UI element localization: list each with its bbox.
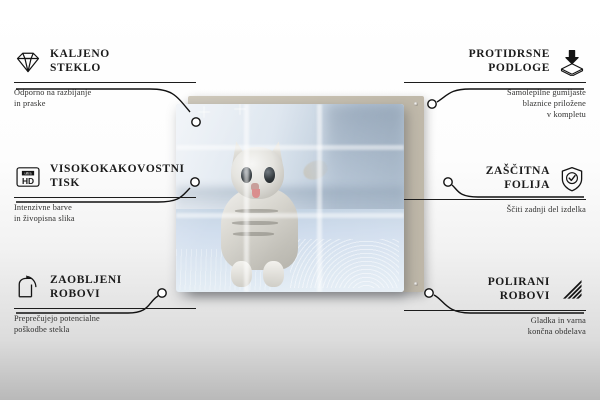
divider	[14, 197, 196, 198]
svg-text:HD: HD	[22, 176, 34, 186]
feature-title: ZAŠČITNA FOLIJA	[486, 165, 550, 192]
ultra-hd-badge-icon: ultra HD	[14, 163, 42, 191]
divider	[14, 82, 196, 83]
feature-title: VISOKOKAKOVOSTNI TISK	[50, 163, 185, 190]
product-image	[176, 96, 424, 296]
hatched-triangle-icon	[558, 276, 586, 304]
shield-check-icon	[558, 165, 586, 193]
kitten-photo	[176, 104, 404, 292]
feature-description: Odporno na razbijanje in praske	[14, 87, 196, 109]
sparkle-icon	[234, 104, 246, 115]
glass-plate	[176, 104, 404, 292]
feature-kaljeno-steklo: KALJENO STEKLO Odporno na razbijanje in …	[14, 44, 196, 109]
anti-slip-pad-icon	[558, 48, 586, 76]
svg-text:ultra: ultra	[24, 172, 32, 176]
feature-description: Gladka in varna končna obdelava	[404, 315, 586, 337]
feature-zaobljeni-robovi: ZAOBLJENI ROBOVI Preprečujejo potencialn…	[14, 270, 196, 335]
feature-protidrsne-podloge: PROTIDRSNE PODLOGE Samolepilne gumijaste…	[404, 44, 586, 121]
feature-description: Preprečujejo potencialne poškodbe stekla	[14, 313, 196, 335]
rounded-corner-icon	[14, 274, 42, 302]
divider	[404, 82, 586, 83]
divider	[14, 308, 196, 309]
feature-title: POLIRANI ROBOVI	[488, 276, 550, 303]
feature-description: Samolepilne gumijaste blaznice priložene…	[404, 87, 586, 121]
feature-title: PROTIDRSNE PODLOGE	[469, 48, 550, 75]
glass-sheen	[176, 104, 404, 292]
divider	[404, 310, 586, 311]
sparkle-icon	[198, 106, 210, 118]
feature-description: Intenzivne barve in živopisna slika	[14, 202, 196, 224]
feature-title: KALJENO STEKLO	[50, 48, 110, 75]
infographic-canvas: KALJENO STEKLO Odporno na razbijanje in …	[0, 0, 600, 400]
feature-polirani-robovi: POLIRANI ROBOVI Gladka in varna končna o…	[404, 272, 586, 337]
feature-zascitna-folija: ZAŠČITNA FOLIJA Ščiti zadnji del izdelka	[404, 161, 586, 215]
feature-title: ZAOBLJENI ROBOVI	[50, 274, 122, 301]
feature-description: Ščiti zadnji del izdelka	[404, 204, 586, 215]
diamond-icon	[14, 48, 42, 76]
divider	[404, 199, 586, 200]
feature-visokokakovostni-tisk: ultra HD VISOKOKAKOVOSTNI TISK Intenzivn…	[14, 159, 196, 224]
